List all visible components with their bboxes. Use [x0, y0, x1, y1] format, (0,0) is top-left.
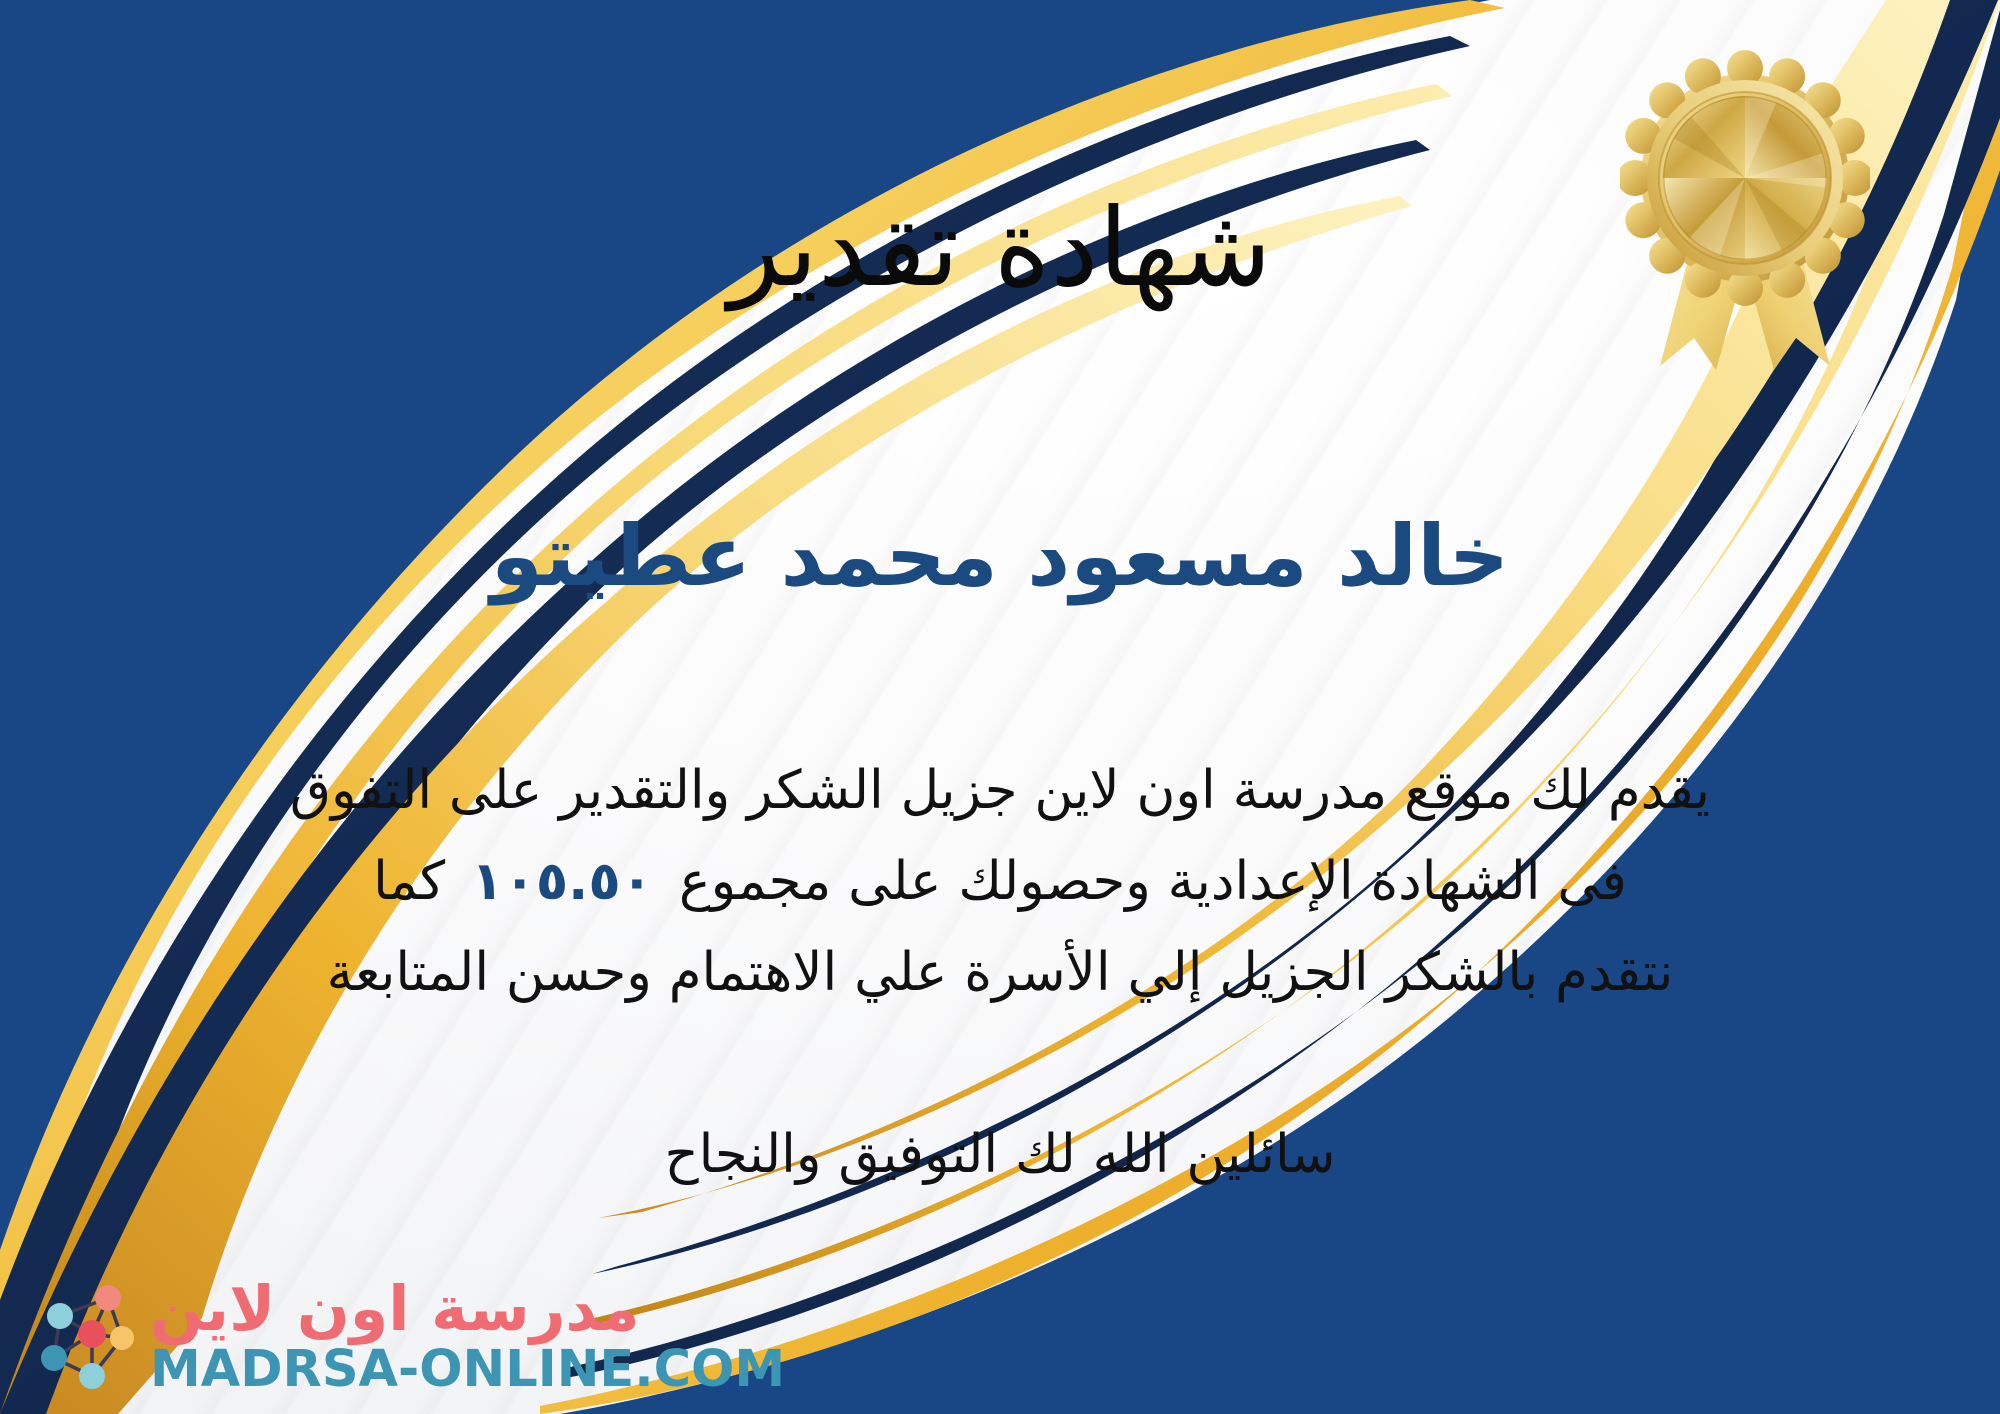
body-line-2-prefix: فى الشهادة الإعدادية وحصولك على مجموع — [679, 851, 1627, 912]
closing-line: سائلين الله لك التوفيق والنجاح — [0, 1118, 2000, 1192]
gold-medal-seal-icon — [1620, 48, 1870, 378]
network-nodes-logo-icon — [30, 1276, 140, 1396]
body-line-3: نتقدم بالشكر الجزيل إلي الأسرة علي الاهت… — [60, 927, 1940, 1018]
site-logo[interactable]: مدرسة اون لاين MADRSA-ONLINE.COM — [30, 1276, 785, 1396]
certificate-body-text: يقدم لك موقع مدرسة اون لاين جزيل الشكر و… — [60, 745, 1940, 1018]
body-line-2-suffix: كما — [373, 851, 445, 912]
logo-arabic-name: مدرسة اون لاين — [150, 1278, 640, 1340]
score-value: ١٠٥.٥٠ — [445, 836, 679, 927]
body-line-2: فى الشهادة الإعدادية وحصولك على مجموع١٠٥… — [60, 836, 1940, 927]
logo-domain-name: MADRSA-ONLINE.COM — [150, 1344, 785, 1395]
certificate-page: شهادة تقدير خالد مسعود محمد عطيتو يقدم ل… — [0, 0, 2000, 1414]
body-line-1: يقدم لك موقع مدرسة اون لاين جزيل الشكر و… — [60, 745, 1940, 836]
logo-text-block: مدرسة اون لاين MADRSA-ONLINE.COM — [150, 1278, 785, 1395]
recipient-name: خالد مسعود محمد عطيتو — [0, 508, 2000, 605]
